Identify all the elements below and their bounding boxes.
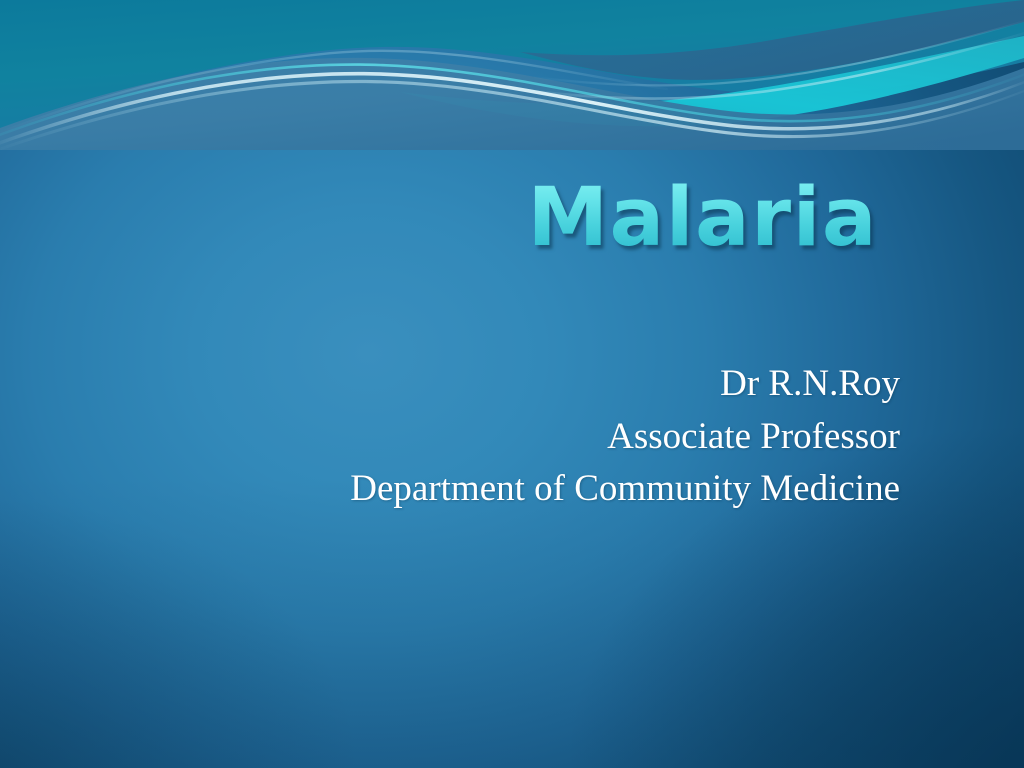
subtitle-line-author: Dr R.N.Roy (0, 358, 900, 411)
title-slide: Malaria Dr R.N.Roy Associate Professor D… (0, 0, 1024, 768)
wave-decoration (0, 0, 1024, 150)
title-container: Malaria (0, 178, 878, 259)
subtitle-line-department: Department of Community Medicine (0, 463, 900, 516)
slide-title: Malaria (527, 178, 878, 259)
subtitle-block: Dr R.N.Roy Associate Professor Departmen… (0, 358, 900, 516)
subtitle-line-designation: Associate Professor (0, 411, 900, 464)
